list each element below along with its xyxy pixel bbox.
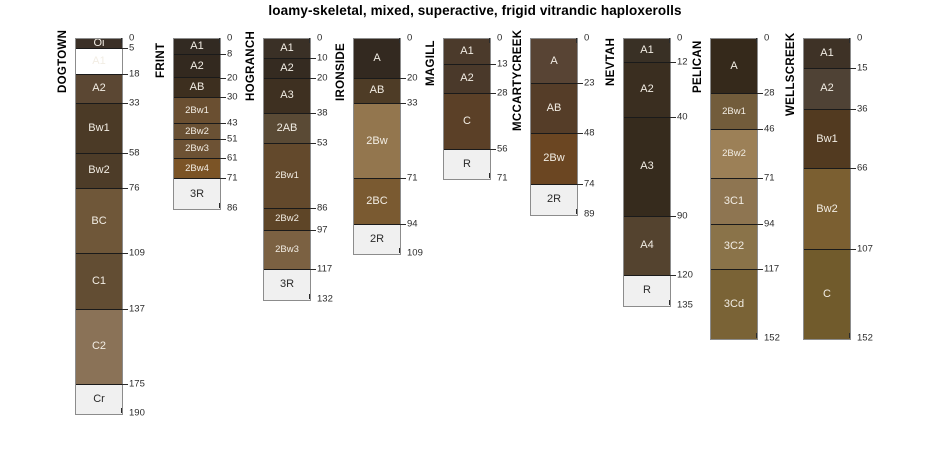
axis-end-cap: [121, 408, 129, 413]
horizon-block[interactable]: 2Bw1: [264, 144, 310, 209]
axis-tick: [220, 78, 226, 79]
horizon-block[interactable]: 2BC: [354, 179, 400, 224]
horizon-label: R: [463, 159, 471, 170]
horizon-block[interactable]: 3C1: [711, 179, 757, 224]
axis-tick: [310, 78, 316, 79]
depth-tick-label: 30: [227, 93, 238, 103]
depth-tick-label: 48: [584, 128, 595, 138]
horizon-block[interactable]: R: [444, 150, 490, 180]
axis-tick: [220, 158, 226, 159]
depth-tick-label: 0: [497, 33, 502, 43]
soil-profile-figure: loamy-skeletal, mixed, superactive, frig…: [0, 0, 950, 450]
horizon-block[interactable]: A2: [174, 55, 220, 79]
horizon-label: Bw1: [88, 123, 109, 134]
horizon-label: 2Bw: [366, 136, 387, 147]
depth-tick-label: 175: [129, 379, 145, 389]
horizon-column: A2Bw12Bw23C13C23Cd: [710, 38, 758, 340]
horizon-label: 2R: [547, 194, 561, 205]
horizon-label: 2Bw2: [185, 127, 209, 137]
depth-tick-label: 46: [764, 124, 775, 134]
horizon-block[interactable]: A2: [804, 69, 850, 110]
horizon-label: A2: [190, 61, 203, 72]
axis-tick: [577, 184, 583, 185]
horizon-block[interactable]: 2Bw2: [264, 209, 310, 231]
axis-end-cap: [756, 333, 764, 338]
depth-tick-label: 0: [677, 33, 682, 43]
depth-tick-label: 38: [317, 108, 328, 118]
axis-tick: [122, 309, 128, 310]
horizon-block[interactable]: A1: [174, 39, 220, 55]
horizon-block[interactable]: C: [804, 250, 850, 339]
page-title: loamy-skeletal, mixed, superactive, frig…: [0, 3, 950, 18]
depth-tick-label: 0: [407, 33, 412, 43]
depth-tick-label: 53: [317, 138, 328, 148]
profile-name-label: HOGRANCH: [245, 31, 257, 101]
depth-tick-label: 23: [584, 79, 595, 89]
horizon-label: C: [463, 116, 471, 127]
depth-tick-label: 20: [227, 73, 238, 83]
horizon-label: A1: [640, 45, 653, 56]
depth-tick-label: 137: [129, 304, 145, 314]
axis-tick: [670, 275, 676, 276]
profile-name-label: FRINT: [155, 43, 167, 78]
depth-tick-label: 71: [764, 173, 775, 183]
axis-tick: [850, 109, 856, 110]
depth-tick-label: 28: [764, 89, 775, 99]
axis-tick: [122, 153, 128, 154]
axis-tick: [310, 230, 316, 231]
horizon-block[interactable]: A1: [76, 49, 122, 75]
horizon-column: AAB2Bw2R: [530, 38, 578, 216]
axis-end-cap: [669, 300, 677, 305]
horizon-block[interactable]: AB: [174, 78, 220, 98]
axis-tick: [400, 178, 406, 179]
depth-tick-label: 66: [857, 164, 868, 174]
depth-tick-label: 90: [677, 211, 688, 221]
axis-end-cap: [121, 38, 129, 43]
depth-tick-label: 97: [317, 225, 328, 235]
axis-end-cap: [849, 38, 857, 43]
depth-tick-label: 71: [497, 173, 508, 183]
horizon-column: A1A2A3A4R: [623, 38, 671, 307]
axis-tick: [757, 224, 763, 225]
depth-tick-label: 36: [857, 104, 868, 114]
axis-tick: [122, 188, 128, 189]
horizon-label: C: [823, 289, 831, 300]
horizon-block[interactable]: 3C2: [711, 225, 757, 270]
horizon-block[interactable]: A: [531, 39, 577, 84]
depth-tick-label: 58: [129, 148, 140, 158]
axis-end-cap: [399, 38, 407, 43]
horizon-column: AAB2Bw2BC2R: [353, 38, 401, 255]
depth-tick-label: 94: [764, 219, 775, 229]
depth-tick-label: 0: [584, 33, 589, 43]
horizon-label: AB: [547, 103, 562, 114]
axis-tick: [757, 93, 763, 94]
horizon-block[interactable]: A3: [264, 79, 310, 115]
profile-name-label: IRONSIDE: [335, 43, 347, 101]
horizon-label: 2Bw1: [275, 171, 299, 181]
depth-tick-label: 120: [677, 270, 693, 280]
horizon-label: 2Bw3: [185, 144, 209, 154]
axis-tick: [220, 178, 226, 179]
horizon-label: 2BC: [366, 196, 387, 207]
depth-tick-label: 10: [317, 53, 328, 63]
depth-tick-label: 94: [407, 219, 418, 229]
depth-tick-label: 40: [677, 112, 688, 122]
horizon-block[interactable]: 2Bw1: [711, 94, 757, 130]
axis-tick: [850, 168, 856, 169]
depth-tick-label: 43: [227, 118, 238, 128]
horizon-block[interactable]: 2Bw4: [174, 159, 220, 179]
horizon-block[interactable]: 2AB: [264, 114, 310, 144]
horizon-label: 2R: [370, 234, 384, 245]
depth-tick-label: 132: [317, 294, 333, 304]
depth-tick-label: 89: [584, 209, 595, 219]
horizon-block[interactable]: A4: [624, 217, 670, 276]
axis-tick: [670, 216, 676, 217]
depth-tick-label: 76: [129, 183, 140, 193]
horizon-label: 2Bw4: [185, 164, 209, 174]
horizon-column: OiA1A2Bw1Bw2BCC1C2Cr: [75, 38, 123, 415]
horizon-label: 2Bw1: [185, 106, 209, 116]
horizon-label: 2Bw1: [722, 107, 746, 117]
horizon-block[interactable]: Oi: [76, 39, 122, 49]
horizon-block[interactable]: 2Bw: [354, 104, 400, 179]
axis-tick: [310, 269, 316, 270]
axis-tick: [220, 123, 226, 124]
profile-name-label: DOGTOWN: [57, 30, 69, 93]
axis-tick: [400, 78, 406, 79]
horizon-label: BC: [91, 216, 106, 227]
horizon-label: 3C1: [724, 196, 744, 207]
depth-tick-label: 117: [764, 264, 779, 274]
axis-tick: [757, 178, 763, 179]
horizon-label: Cr: [93, 394, 105, 405]
horizon-label: Bw1: [816, 134, 837, 145]
depth-tick-label: 152: [764, 333, 780, 343]
horizon-block[interactable]: 2Bw2: [711, 130, 757, 179]
horizon-column: A1A2CR: [443, 38, 491, 180]
horizon-column: A1A2Bw1Bw2C: [803, 38, 851, 340]
horizon-block[interactable]: Bw2: [76, 154, 122, 190]
horizon-block[interactable]: C1: [76, 254, 122, 309]
horizon-block[interactable]: Bw1: [804, 110, 850, 169]
profile-name-label: MCCARTYCREEK: [512, 30, 524, 131]
horizon-block[interactable]: 2Bw1: [174, 98, 220, 124]
profile-name-label: MAGILL: [425, 40, 437, 86]
horizon-label: AB: [370, 85, 385, 96]
horizon-block[interactable]: A1: [624, 39, 670, 63]
horizon-block[interactable]: AB: [531, 84, 577, 133]
horizon-label: A1: [190, 41, 203, 52]
depth-tick-label: 71: [407, 173, 418, 183]
axis-tick: [757, 129, 763, 130]
depth-tick-label: 74: [584, 179, 595, 189]
axis-tick: [850, 249, 856, 250]
depth-tick-label: 56: [497, 144, 508, 154]
horizon-label: A1: [460, 46, 473, 57]
axis-tick: [850, 68, 856, 69]
horizon-block[interactable]: A1: [444, 39, 490, 65]
depth-tick-label: 0: [317, 33, 322, 43]
horizon-block[interactable]: 2Bw2: [174, 124, 220, 140]
horizon-label: 2AB: [277, 123, 298, 134]
depth-tick-label: 86: [227, 203, 238, 213]
axis-tick: [220, 54, 226, 55]
horizon-block[interactable]: A2: [444, 65, 490, 95]
depth-tick-label: 13: [497, 59, 508, 69]
depth-tick-label: 61: [227, 154, 238, 164]
horizon-label: Oi: [94, 39, 105, 49]
axis-tick: [220, 97, 226, 98]
horizon-block[interactable]: BC: [76, 189, 122, 254]
profile-name-label: NEVTAH: [605, 37, 617, 85]
horizon-block[interactable]: A2: [624, 63, 670, 118]
axis-tick: [310, 143, 316, 144]
profile-name-label: WELLSCREEK: [785, 33, 797, 117]
axis-tick: [490, 64, 496, 65]
horizon-label: A3: [280, 90, 293, 101]
depth-tick-label: 86: [317, 203, 328, 213]
horizon-label: A2: [460, 73, 473, 84]
depth-tick-label: 190: [129, 409, 145, 419]
horizon-block[interactable]: Bw2: [804, 169, 850, 250]
horizon-label: 2Bw3: [275, 245, 299, 255]
horizon-block[interactable]: A2: [264, 59, 310, 79]
axis-tick: [220, 139, 226, 140]
horizon-block[interactable]: 2Bw3: [264, 231, 310, 271]
axis-tick: [122, 253, 128, 254]
axis-tick: [400, 103, 406, 104]
depth-tick-label: 0: [764, 33, 769, 43]
depth-tick-label: 8: [227, 49, 232, 59]
axis-end-cap: [399, 248, 407, 253]
axis-end-cap: [219, 203, 227, 208]
axis-end-cap: [669, 38, 677, 43]
horizon-label: A2: [280, 63, 293, 74]
depth-tick-label: 109: [129, 249, 145, 259]
horizon-column: A1A2AB2Bw12Bw22Bw32Bw43R: [173, 38, 221, 210]
axis-tick: [310, 113, 316, 114]
horizon-label: 3Cd: [724, 299, 744, 310]
axis-tick: [122, 103, 128, 104]
horizon-label: C2: [92, 341, 106, 352]
horizon-label: 3C2: [724, 241, 744, 252]
horizon-block[interactable]: A: [711, 39, 757, 94]
horizon-label: 2Bw2: [722, 149, 746, 159]
horizon-block[interactable]: A1: [804, 39, 850, 69]
horizon-label: Bw2: [816, 204, 837, 215]
horizon-block[interactable]: AB: [354, 79, 400, 105]
depth-tick-label: 152: [857, 333, 873, 343]
axis-end-cap: [489, 173, 497, 178]
axis-tick: [122, 74, 128, 75]
axis-end-cap: [309, 38, 317, 43]
depth-tick-label: 12: [677, 57, 688, 67]
axis-end-cap: [576, 38, 584, 43]
axis-tick: [577, 83, 583, 84]
horizon-label: 3R: [280, 279, 294, 290]
axis-tick: [122, 384, 128, 385]
axis-tick: [670, 117, 676, 118]
depth-tick-label: 33: [129, 98, 140, 108]
horizon-label: 2Bw2: [275, 214, 299, 224]
horizon-block[interactable]: 2Bw: [531, 134, 577, 185]
axis-tick: [310, 58, 316, 59]
horizon-label: A: [550, 56, 557, 67]
depth-tick-label: 20: [317, 73, 328, 83]
horizon-block[interactable]: A1: [264, 39, 310, 59]
axis-tick: [757, 269, 763, 270]
horizon-label: A1: [820, 48, 833, 59]
horizon-label: A1: [92, 56, 105, 67]
horizon-block[interactable]: A: [354, 39, 400, 79]
horizon-block[interactable]: R: [624, 276, 670, 306]
horizon-column: A1A2A32AB2Bw12Bw22Bw33R: [263, 38, 311, 301]
depth-tick-label: 18: [129, 69, 140, 79]
depth-tick-label: 0: [227, 33, 232, 43]
depth-tick-label: 107: [857, 245, 873, 255]
horizon-block[interactable]: A2: [76, 75, 122, 105]
axis-tick: [670, 62, 676, 63]
axis-tick: [490, 93, 496, 94]
depth-tick-label: 33: [407, 98, 418, 108]
axis-end-cap: [489, 38, 497, 43]
horizon-label: C1: [92, 276, 106, 287]
horizon-block[interactable]: Cr: [76, 385, 122, 415]
horizon-label: Bw2: [88, 165, 109, 176]
horizon-label: R: [643, 285, 651, 296]
axis-tick: [490, 149, 496, 150]
horizon-label: A1: [280, 43, 293, 54]
horizon-block[interactable]: 3R: [264, 270, 310, 300]
horizon-label: A2: [640, 84, 653, 95]
horizon-label: A: [373, 53, 380, 64]
horizon-block[interactable]: 2Bw3: [174, 140, 220, 160]
depth-tick-label: 5: [129, 43, 134, 53]
axis-end-cap: [756, 38, 764, 43]
depth-tick-label: 0: [857, 33, 862, 43]
axis-end-cap: [576, 209, 584, 214]
profile-name-label: PELICAN: [692, 41, 704, 94]
depth-tick-label: 117: [317, 264, 332, 274]
horizon-label: A2: [820, 83, 833, 94]
depth-tick-label: 28: [497, 89, 508, 99]
axis-tick: [310, 208, 316, 209]
axis-end-cap: [849, 333, 857, 338]
horizon-block[interactable]: 2R: [354, 225, 400, 255]
axis-tick: [122, 48, 128, 49]
depth-tick-label: 109: [407, 249, 423, 259]
horizon-block[interactable]: 3Cd: [711, 270, 757, 339]
horizon-block[interactable]: C2: [76, 310, 122, 385]
horizon-block[interactable]: C: [444, 94, 490, 149]
depth-tick-label: 20: [407, 73, 418, 83]
depth-tick-label: 135: [677, 300, 693, 310]
depth-tick-label: 15: [857, 63, 868, 73]
axis-tick: [400, 224, 406, 225]
horizon-label: A3: [640, 161, 653, 172]
depth-tick-label: 71: [227, 173, 238, 183]
horizon-block[interactable]: A3: [624, 118, 670, 217]
axis-end-cap: [309, 294, 317, 299]
horizon-label: A4: [640, 240, 653, 251]
horizon-label: AB: [190, 82, 205, 93]
horizon-label: 2Bw: [543, 153, 564, 164]
horizon-block[interactable]: Bw1: [76, 104, 122, 153]
horizon-label: A2: [92, 83, 105, 94]
axis-end-cap: [219, 38, 227, 43]
depth-tick-label: 51: [227, 134, 238, 144]
horizon-label: 3R: [190, 189, 204, 200]
horizon-block[interactable]: 2R: [531, 185, 577, 215]
horizon-block[interactable]: 3R: [174, 179, 220, 209]
axis-tick: [577, 133, 583, 134]
horizon-label: A: [730, 61, 737, 72]
